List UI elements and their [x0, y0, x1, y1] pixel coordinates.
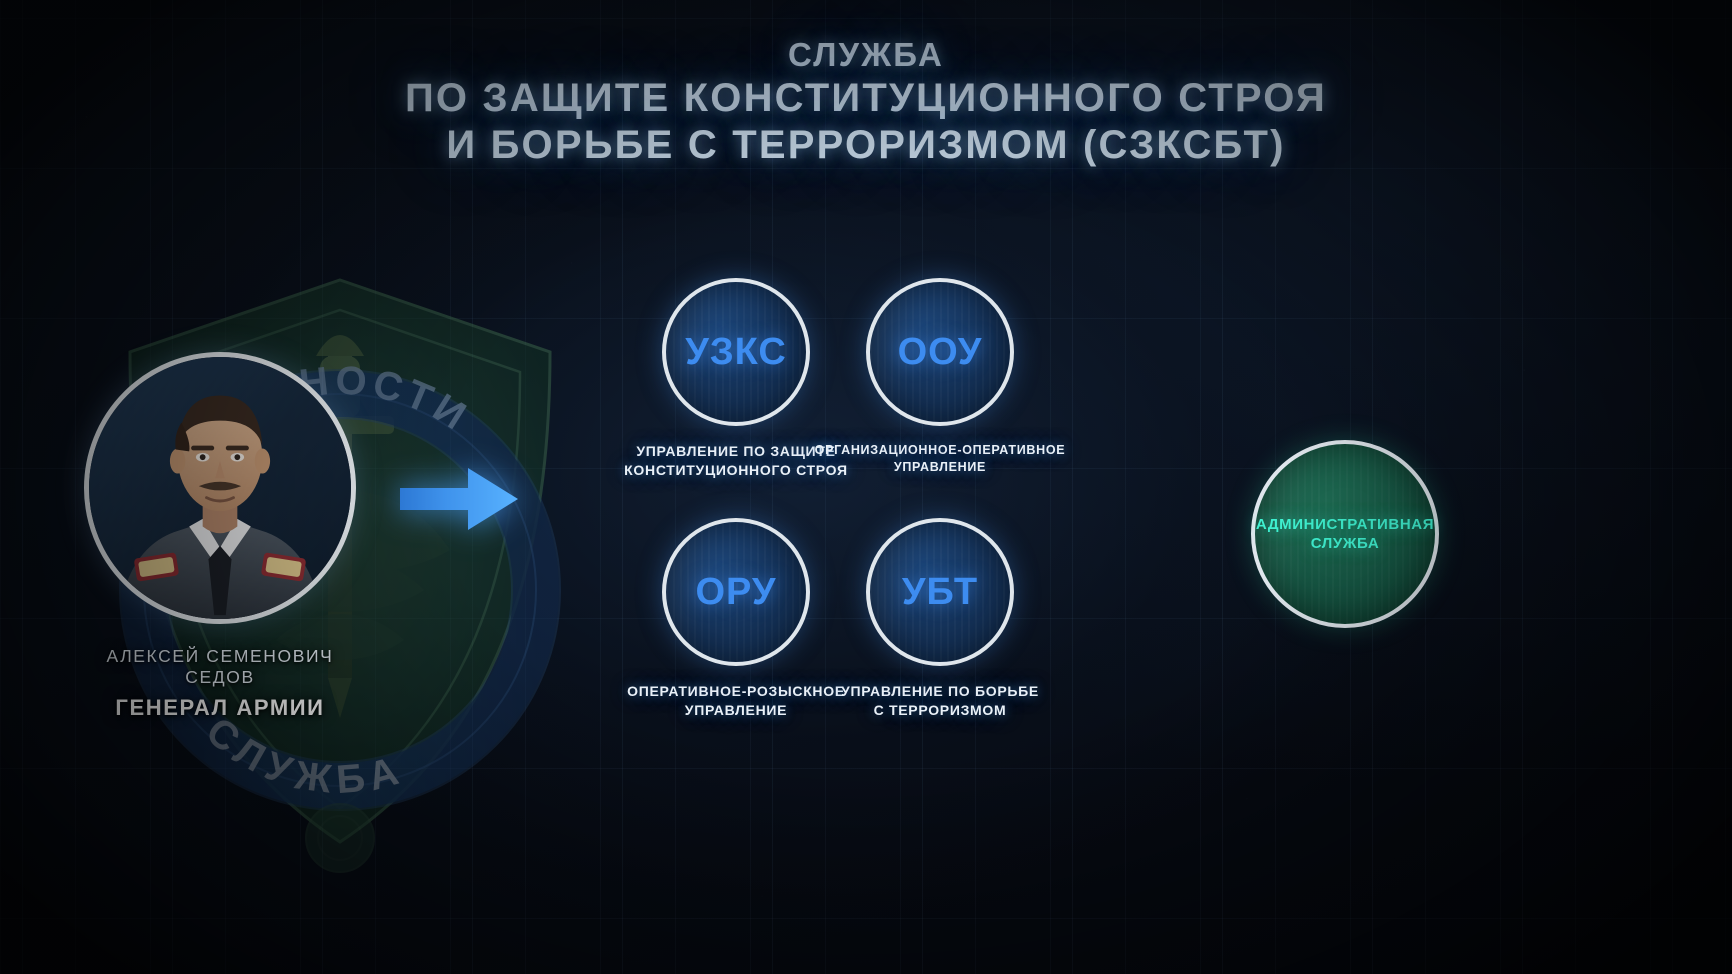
- node-uzks-abbr: УЗКС: [685, 331, 787, 374]
- node-uzks-bubble[interactable]: УЗКС: [662, 278, 810, 426]
- node-oru-abbr: ОРУ: [695, 571, 776, 614]
- node-oou-bubble[interactable]: ООУ: [866, 278, 1014, 426]
- infographic-slide: БЕЗОПАСНОСТИ СЛУЖБА СЛУЖБА ПО ЗАЩИТЕ КОН…: [0, 0, 1732, 974]
- node-ubt-bubble[interactable]: УБТ: [866, 518, 1014, 666]
- node-oru-bubble[interactable]: ОРУ: [662, 518, 810, 666]
- node-ubt-abbr: УБТ: [902, 571, 978, 614]
- title-line-2: ПО ЗАЩИТЕ КОНСТИТУЦИОННОГО СТРОЯ: [0, 75, 1732, 122]
- person-card: АЛЕКСЕЙ СЕМЕНОВИЧ СЕДОВ ГЕНЕРАЛ АРМИИ: [84, 352, 356, 721]
- portrait-photo: [89, 357, 351, 619]
- person-name: АЛЕКСЕЙ СЕМЕНОВИЧ СЕДОВ: [84, 646, 356, 688]
- svg-text:СЛУЖБА: СЛУЖБА: [198, 709, 411, 803]
- title-line-3: И БОРЬБЕ С ТЕРРОРИЗМОМ (СЗКСБТ): [0, 122, 1732, 169]
- title-line-1: СЛУЖБА: [0, 36, 1732, 75]
- person-rank: ГЕНЕРАЛ АРМИИ: [84, 695, 356, 721]
- node-ubt[interactable]: УБТ УПРАВЛЕНИЕ ПО БОРЬБЕ С ТЕРРОРИЗМОМ: [790, 518, 1090, 720]
- node-oou-abbr: ООУ: [898, 331, 983, 374]
- arrow-right-icon: [400, 466, 518, 532]
- node-administrative-service-label: АДМИНИСТРАТИВНАЯ СЛУЖБА: [1242, 515, 1448, 554]
- avatar: [84, 352, 356, 624]
- node-oou[interactable]: ООУ ОРГАНИЗАЦИОННОЕ-ОПЕРАТИВНОЕ УПРАВЛЕН…: [790, 278, 1090, 476]
- node-ubt-caption: УПРАВЛЕНИЕ ПО БОРЬБЕ С ТЕРРОРИЗМОМ: [790, 682, 1090, 720]
- node-administrative-service[interactable]: АДМИНИСТРАТИВНАЯ СЛУЖБА: [1240, 440, 1450, 628]
- page-title: СЛУЖБА ПО ЗАЩИТЕ КОНСТИТУЦИОННОГО СТРОЯ …: [0, 36, 1732, 169]
- node-administrative-service-bubble[interactable]: АДМИНИСТРАТИВНАЯ СЛУЖБА: [1251, 440, 1439, 628]
- node-oou-caption: ОРГАНИЗАЦИОННОЕ-ОПЕРАТИВНОЕ УПРАВЛЕНИЕ: [790, 442, 1090, 476]
